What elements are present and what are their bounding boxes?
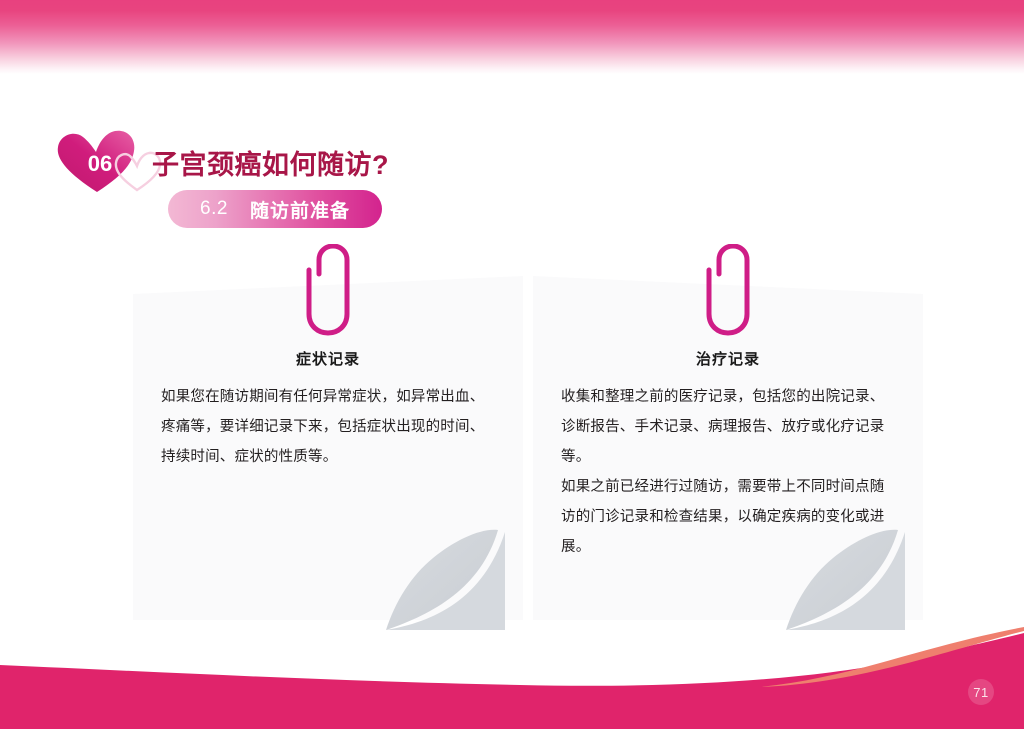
heart-shape xyxy=(58,131,135,192)
paperclip-icon xyxy=(706,244,750,336)
card-body: 如果您在随访期间有任何异常症状，如异常出血、疼痛等，要详细记录下来，包括症状出现… xyxy=(161,382,495,472)
section-badge: 6.2 随访前准备 xyxy=(168,190,382,228)
page-title: 子宫颈癌如何随访? xyxy=(152,143,389,182)
chapter-heart-logo xyxy=(56,128,166,194)
paperclip-icon xyxy=(306,244,350,336)
card-body: 收集和整理之前的医疗记录，包括您的出院记录、诊断报告、手术记录、病理报告、放疗或… xyxy=(561,382,895,562)
content-cards: 症状记录 如果您在随访期间有任何异常症状，如异常出血、疼痛等，要详细记录下来，包… xyxy=(0,240,1024,640)
wave-magenta xyxy=(0,633,1024,729)
card-paragraph: 收集和整理之前的医疗记录，包括您的出院记录、诊断报告、手术记录、病理报告、放疗或… xyxy=(561,382,895,472)
card-paragraph: 如果之前已经进行过随访，需要带上不同时间点随访的门诊记录和检查结果，以确定疾病的… xyxy=(561,472,895,562)
card-heading: 治疗记录 xyxy=(533,348,923,369)
card-treatment-record: 治疗记录 收集和整理之前的医疗记录，包括您的出院记录、诊断报告、手术记录、病理报… xyxy=(533,240,923,632)
page-header: 06 子宫颈癌如何随访? 6.2 随访前准备 xyxy=(0,0,1024,240)
bottom-wave-decoration xyxy=(0,619,1024,729)
page-number: 71 xyxy=(968,679,994,705)
card-paragraph: 如果您在随访期间有任何异常症状，如异常出血、疼痛等，要详细记录下来，包括症状出现… xyxy=(161,382,495,472)
section-badge-number: 6.2 xyxy=(200,198,228,220)
card-heading: 症状记录 xyxy=(133,348,523,369)
card-symptom-record: 症状记录 如果您在随访期间有任何异常症状，如异常出血、疼痛等，要详细记录下来，包… xyxy=(133,240,523,632)
section-badge-label: 随访前准备 xyxy=(250,196,350,223)
